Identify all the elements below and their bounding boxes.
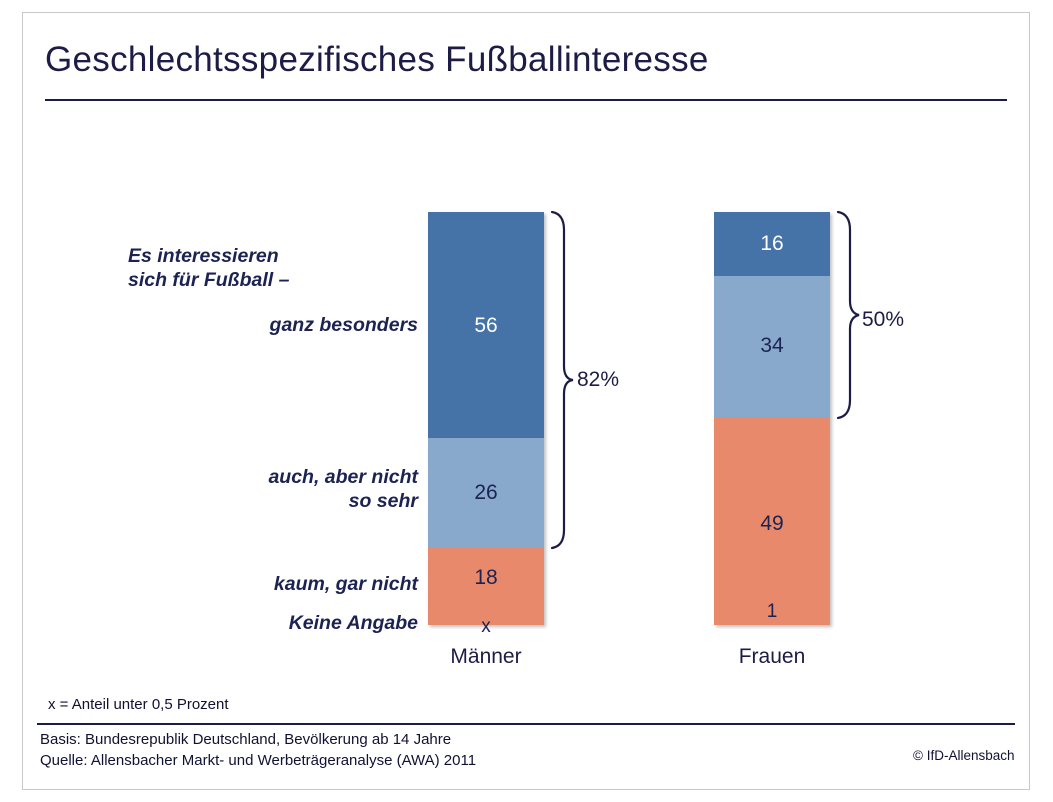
- axis-label-frauen: Frauen: [672, 645, 872, 669]
- segment-maenner-kaum-gar-nicht: 18: [428, 548, 544, 625]
- segment-frauen-ganz-besonders: 16: [714, 212, 830, 276]
- footer-divider: [37, 723, 1015, 725]
- label-kaum-gar-nicht: kaum, gar nicht: [140, 572, 418, 596]
- slide-canvas: Geschlechtsspezifisches Fußballinteresse…: [0, 0, 1053, 802]
- footnote-x-definition: x = Anteil unter 0,5 Prozent: [48, 696, 229, 713]
- value-frauen-kaum-gar-nicht: 49: [714, 512, 830, 536]
- label-ganz-besonders: ganz besonders: [140, 313, 418, 337]
- segment-maenner-ganz-besonders: 56: [428, 212, 544, 438]
- copyright-text: © IfD-Allensbach: [913, 748, 1015, 763]
- segment-maenner-auch-aber-nicht: 26: [428, 438, 544, 548]
- bracket-frauen: [834, 208, 862, 422]
- axis-label-maenner: Männer: [386, 645, 586, 669]
- value-maenner-auch-aber-nicht: 26: [428, 481, 544, 505]
- value-maenner-keine-angabe: x: [428, 616, 544, 638]
- bar-maenner: 56 26 18: [428, 212, 544, 625]
- value-maenner-kaum-gar-nicht: 18: [428, 566, 544, 590]
- page-title: Geschlechtsspezifisches Fußballinteresse: [45, 40, 709, 80]
- label-intro: Es interessieren sich für Fußball –: [128, 244, 289, 292]
- bracket-label-frauen: 50%: [862, 308, 904, 332]
- quelle-text: Quelle: Allensbacher Markt- und Werbeträ…: [40, 750, 476, 771]
- basis-text: Basis: Bundesrepublik Deutschland, Bevöl…: [40, 729, 451, 750]
- value-maenner-ganz-besonders: 56: [428, 314, 544, 338]
- bracket-maenner: [548, 208, 576, 552]
- value-frauen-keine-angabe: 1: [714, 601, 830, 623]
- bar-frauen: 16 34 49: [714, 212, 830, 625]
- title-divider: [45, 99, 1007, 101]
- value-frauen-auch-aber-nicht: 34: [714, 334, 830, 358]
- segment-frauen-auch-aber-nicht: 34: [714, 276, 830, 417]
- value-frauen-ganz-besonders: 16: [714, 232, 830, 256]
- segment-frauen-kaum-gar-nicht: 49: [714, 417, 830, 625]
- bracket-label-maenner: 82%: [577, 368, 619, 392]
- label-keine-angabe: Keine Angabe: [140, 611, 418, 635]
- label-auch-aber-nicht-so-sehr: auch, aber nicht so sehr: [140, 465, 418, 513]
